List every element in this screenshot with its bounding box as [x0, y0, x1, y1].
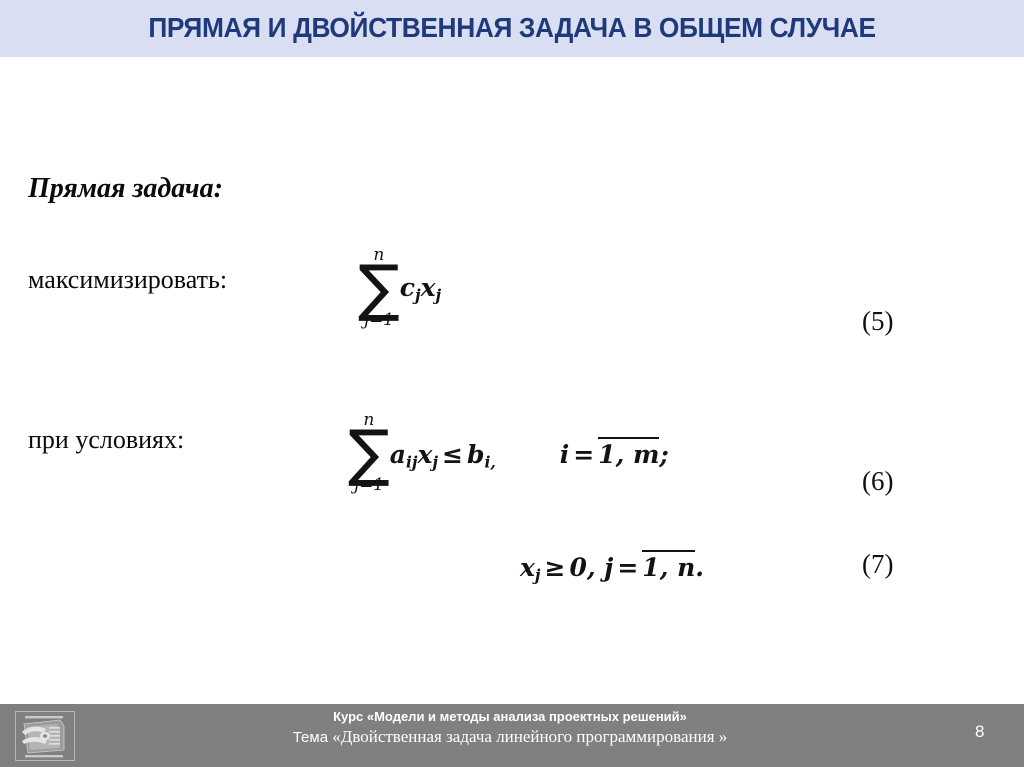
objective-expression: cjxj — [400, 273, 441, 305]
index-range-1m: 1, m — [598, 437, 659, 469]
summation-symbol-eq5: n ∑ j=1 — [358, 247, 400, 329]
rhs-b-subscript: i, — [484, 452, 495, 471]
equation-number-5: (5) — [862, 306, 893, 337]
index-range-1n: 1, n — [642, 550, 695, 582]
formula-objective: n ∑ j=1 cjxj — [358, 247, 441, 329]
sigma-glyph-eq6: ∑ — [348, 426, 390, 479]
summation-symbol-eq6: n ∑ j=1 — [348, 412, 390, 494]
equation-number-7: (7) — [862, 549, 893, 580]
formula-nonnegativity: xj≥0, j=1, n. — [520, 549, 704, 584]
var-x-subscript-eq7: j — [535, 566, 541, 585]
formula-constraint-inequality: n ∑ j=1 aijxj≤bi,i=1, m; — [348, 412, 669, 494]
index-tail-eq6: ; — [659, 440, 668, 469]
var-x-eq6: x — [417, 440, 432, 469]
university-emblem-icon — [14, 710, 76, 762]
objective-label: максимизировать: — [28, 265, 227, 295]
coef-c: c — [400, 273, 415, 302]
footer-text-block: Курс «Модели и методы анализа проектных … — [110, 708, 910, 749]
nonnegativity-expression: xj≥0, j=1, n. — [520, 550, 704, 585]
var-x: x — [421, 273, 436, 302]
var-x-subscript: j — [436, 286, 442, 305]
index-equals-eq6: = — [569, 440, 598, 469]
footer-course-line: Курс «Модели и методы анализа проектных … — [110, 708, 910, 726]
index-equals-eq7: = — [613, 553, 642, 582]
constraints-label: при условиях: — [28, 425, 184, 455]
rhs-b: b — [467, 440, 484, 469]
relation-geq: ≥ — [541, 553, 570, 582]
constraint-expression: aijxj≤bi,i=1, m; — [390, 437, 669, 472]
index-tail-eq7: . — [695, 553, 704, 582]
coef-a: a — [390, 440, 406, 469]
primal-problem-heading: Прямая задача: — [28, 173, 223, 205]
page-title: ПРЯМАЯ И ДВОЙСТВЕННАЯ ЗАДАЧА В ОБЩЕМ СЛУ… — [31, 0, 994, 57]
rhs-zero: 0, — [569, 553, 595, 582]
coef-a-subscript: ij — [406, 452, 418, 471]
sum-lower-limit-eq6: j=1 — [348, 477, 390, 494]
footer-topic-body: «Двойственная задача линейного программи… — [332, 727, 727, 746]
sum-lower-limit-eq5: j=1 — [358, 312, 400, 329]
footer-topic-prefix: Тема — [293, 729, 333, 746]
sigma-glyph-eq5: ∑ — [358, 261, 400, 314]
footer-topic-line: Тема «Двойственная задача линейного прог… — [110, 726, 910, 749]
index-var-i: i — [560, 440, 570, 469]
index-var-j: j — [604, 553, 613, 582]
slide-content: Прямая задача: максимизировать: при усло… — [0, 57, 1024, 704]
var-x-eq7: x — [520, 553, 535, 582]
relation-leq: ≤ — [438, 440, 467, 469]
page-number: 8 — [975, 722, 984, 742]
equation-number-6: (6) — [862, 466, 893, 497]
slide-root: ПРЯМАЯ И ДВОЙСТВЕННАЯ ЗАДАЧА В ОБЩЕМ СЛУ… — [0, 0, 1024, 767]
